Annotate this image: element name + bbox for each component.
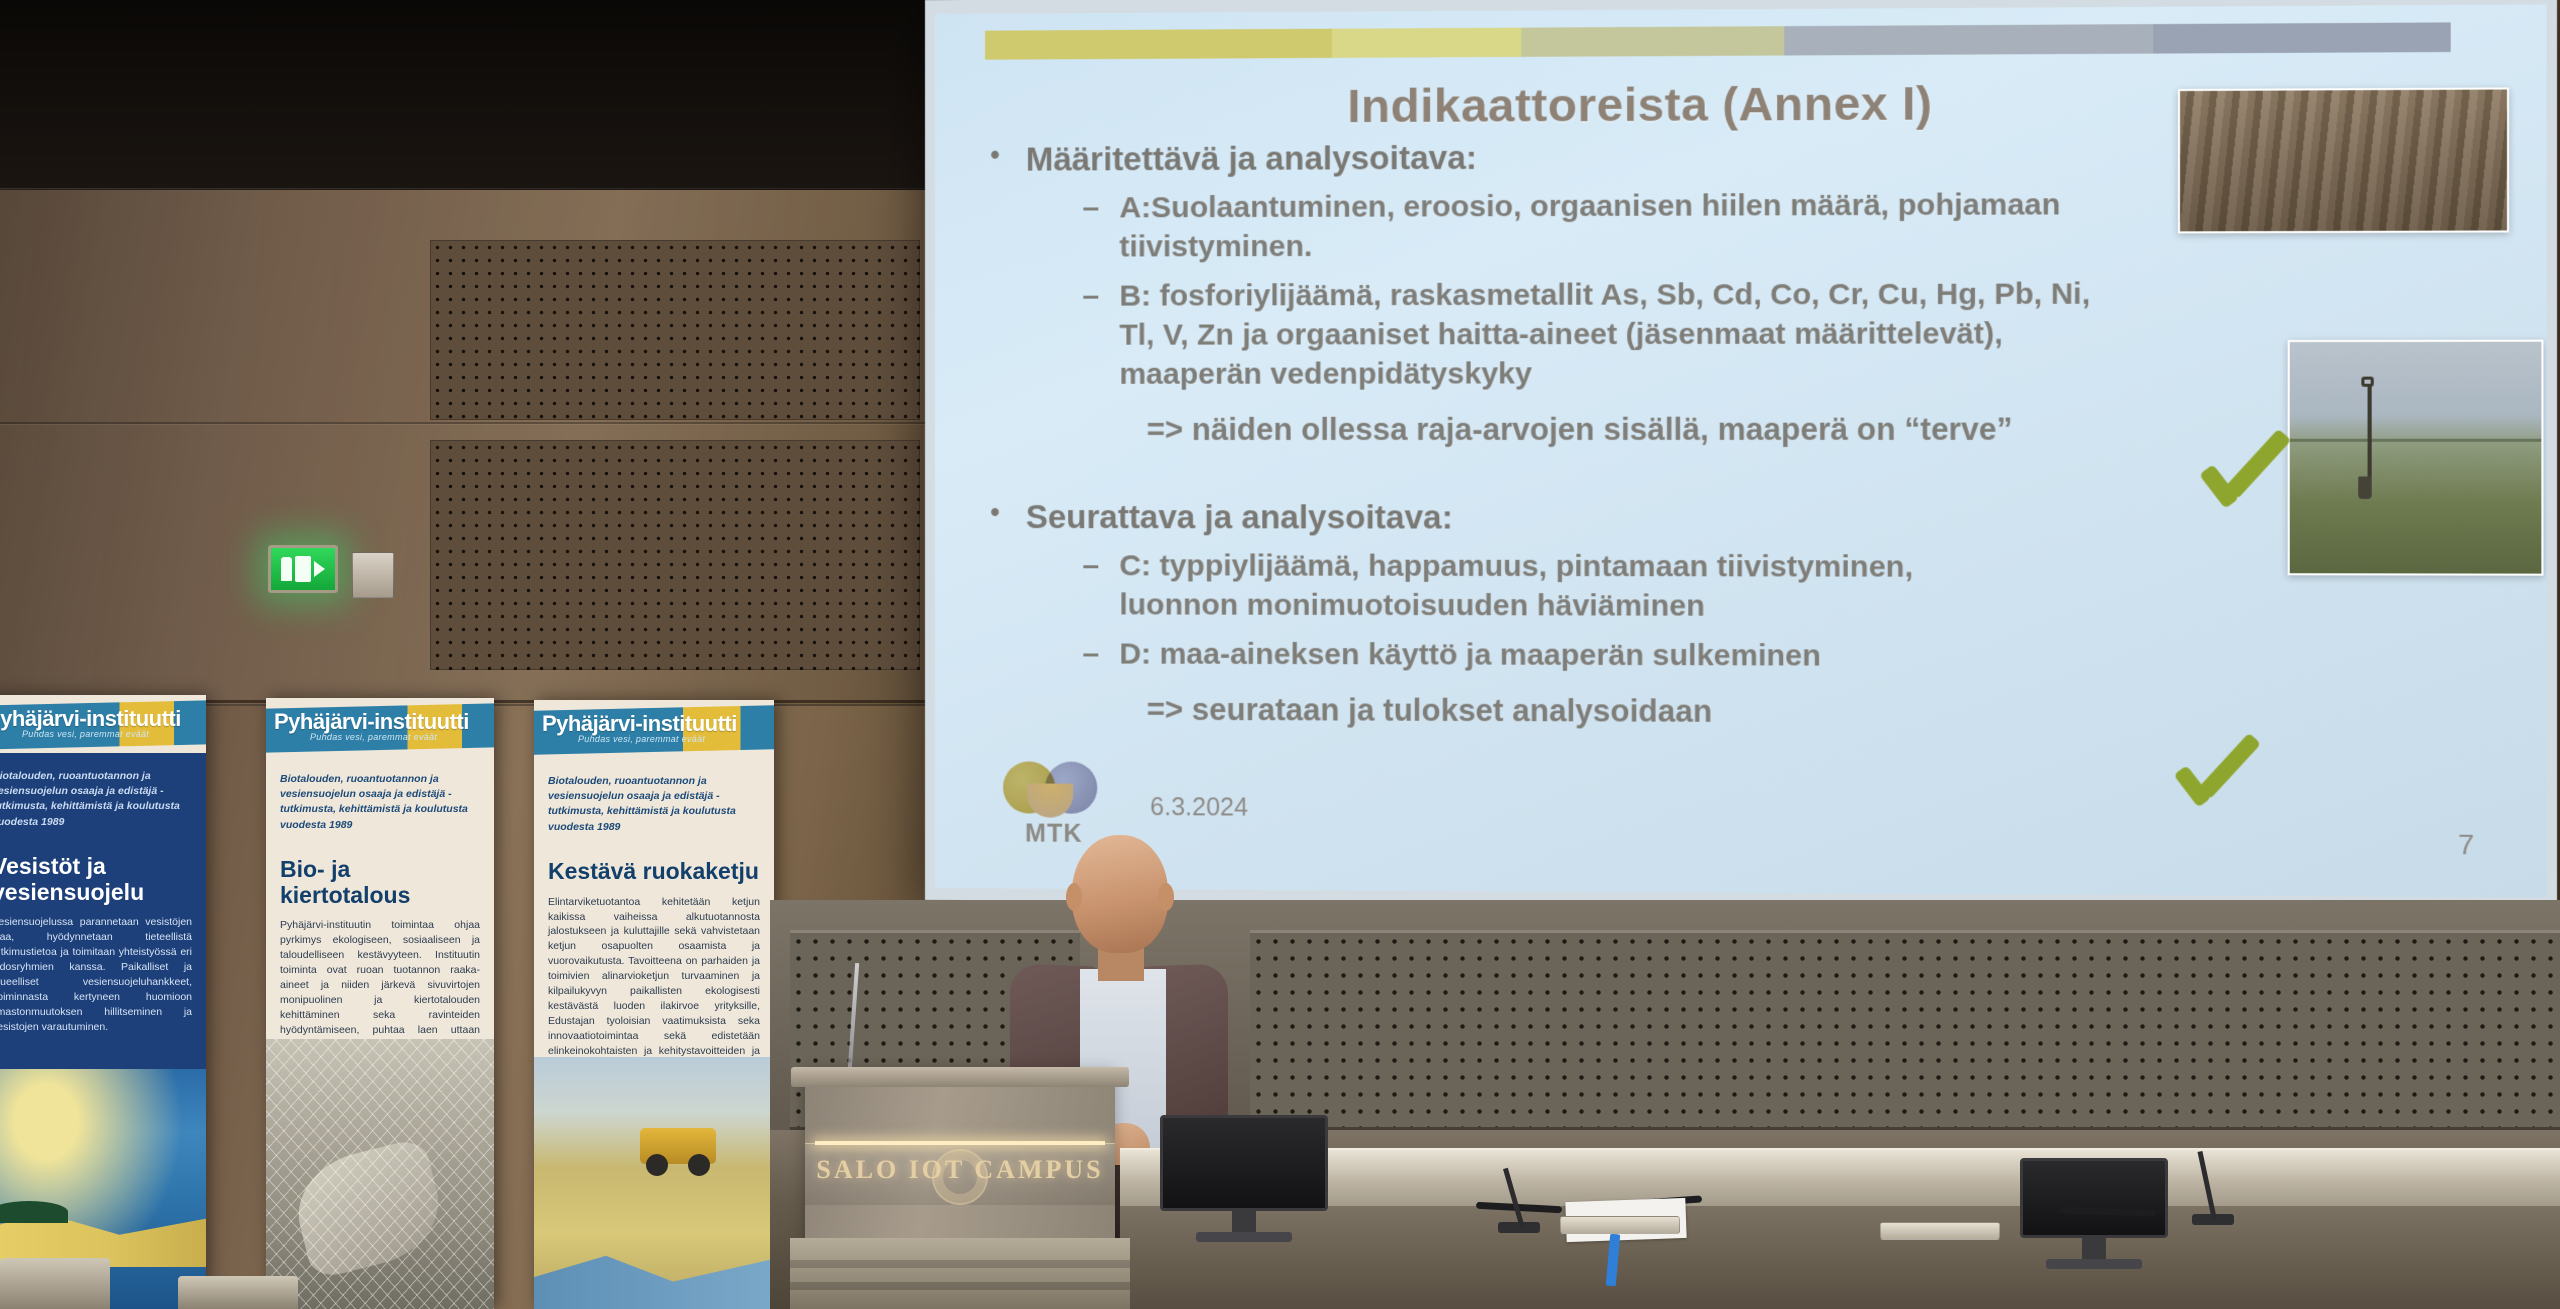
bullet-level1-2: • Seurattava ja analysoitava: bbox=[990, 498, 2276, 538]
bench-slat bbox=[790, 1282, 1130, 1290]
bullet-dot-icon: • bbox=[990, 140, 999, 178]
sub-bullet-B-line3: maaperän vedenpidätyskyky bbox=[1119, 357, 1532, 391]
sub-bullet-A-line2: tiivistyminen. bbox=[1119, 230, 1312, 264]
banner-intro-1: Biotalouden, ruoantuotannon ja vesiensuo… bbox=[0, 753, 206, 830]
sub-bullet-C-text: C: typpiylijäämä, happamuus, pintamaan t… bbox=[1119, 546, 1913, 626]
dash-icon: – bbox=[1082, 276, 1099, 393]
sub-bullet-B: – B: fosforiylijäämä, raskasmetallit As,… bbox=[1082, 274, 2275, 394]
keyboard-1 bbox=[1560, 1216, 1680, 1234]
sub-bullet-D: – D: maa-aineksen käyttö ja maaperän sul… bbox=[1082, 634, 2275, 677]
topbar-segment-4 bbox=[1785, 25, 2154, 56]
perforated-acoustic-panel-1 bbox=[430, 240, 920, 420]
dash-icon: – bbox=[1082, 546, 1099, 624]
monitor-base bbox=[1196, 1232, 1292, 1242]
sub-bullet-A-line1: A:Suolaantuminen, eroosio, orgaanisen hi… bbox=[1119, 188, 2060, 224]
monitor-stand bbox=[1232, 1208, 1256, 1234]
slide-decorative-topbar bbox=[985, 23, 2451, 60]
sub-bullet-D-text: D: maa-aineksen käyttö ja maaperän sulke… bbox=[1119, 634, 1821, 675]
rollup-banner-bio-kiertotalous: Pyhäjärvi-instituutti Puhdas vesi, parem… bbox=[266, 698, 494, 1309]
soil-erosion-photo bbox=[2178, 88, 2509, 234]
topbar-segment-2 bbox=[1332, 28, 1521, 58]
exit-arrow-icon bbox=[314, 561, 325, 577]
banner-photo-river bbox=[534, 1233, 774, 1309]
bullet-level1-2-text: Seurattava ja analysoitava: bbox=[1026, 498, 1453, 537]
banner-tagline-3: Puhdas vesi, paremmat eväät bbox=[578, 734, 705, 744]
banner-header-2: Pyhäjärvi-instituutti Puhdas vesi, parem… bbox=[266, 698, 494, 756]
topbar-segment-3 bbox=[1521, 27, 1784, 58]
sub-bullet-C-line1: C: typpiylijäämä, happamuus, pintamaan t… bbox=[1119, 549, 1913, 583]
venue-sign-text: SALO IOT CAMPUS bbox=[805, 1155, 1115, 1185]
banner-body-1: Vesiensuojelussa parannetaan vesistöjen … bbox=[0, 905, 206, 1034]
sub-bullet-A: – A:Suolaantuminen, eroosio, orgaanisen … bbox=[1082, 184, 2275, 266]
presentation-slide: Indikaattoreista (Annex I) • Määritettäv… bbox=[935, 5, 2547, 898]
stage-perforated-panel-right bbox=[1250, 930, 2560, 1130]
presenter-ears bbox=[1066, 883, 1174, 913]
banner-header-1: Pyhäjärvi-instituutti Puhdas vesi, parem… bbox=[0, 695, 206, 753]
back-wall-upper-dark bbox=[0, 0, 960, 190]
emergency-exit-sign bbox=[268, 545, 338, 593]
sub-bullet-B-text: B: fosforiylijäämä, raskasmetallit As, S… bbox=[1119, 274, 2090, 394]
green-checkmark-1 bbox=[2202, 423, 2305, 510]
topbar-segment-5 bbox=[2153, 23, 2451, 54]
bullet-level1-1: • Määritettävä ja analysoitava: bbox=[990, 135, 2276, 178]
banner-headline-3: Kestävä ruokaketju bbox=[534, 835, 774, 885]
podium-top-surface bbox=[791, 1067, 1129, 1087]
rollup-banner-kestava-ruokaketju: Pyhäjärvi-instituutti Puhdas vesi, parem… bbox=[534, 700, 774, 1309]
wall-mounted-sensor bbox=[352, 552, 394, 598]
projection-screen: Indikaattoreista (Annex I) • Määritettäv… bbox=[925, 0, 2557, 910]
monitor-left bbox=[1160, 1115, 1328, 1211]
mtk-logo-mark bbox=[989, 762, 1119, 819]
monitor-stand bbox=[2082, 1235, 2106, 1261]
banner-photo-fish-net bbox=[266, 1039, 494, 1309]
rollup-banner-vesistot: Pyhäjärvi-instituutti Puhdas vesi, parem… bbox=[0, 695, 206, 1309]
slide-date: 6.3.2024 bbox=[1150, 793, 1248, 823]
banner-photo-tractor bbox=[640, 1128, 716, 1164]
conclusion-line-1: => näiden ollessa raja-arvojen sisällä, … bbox=[1147, 409, 2276, 450]
keyboard-2 bbox=[1880, 1222, 2000, 1240]
banner-intro-2: Biotalouden, ruoantuotannon ja vesiensuo… bbox=[266, 756, 494, 833]
monitor-right bbox=[2020, 1158, 2168, 1238]
exit-person-icon bbox=[281, 557, 292, 581]
section-gap bbox=[990, 450, 2276, 499]
spade-handle bbox=[2367, 383, 2371, 480]
bench-slat bbox=[790, 1260, 1130, 1268]
banner-tagline-1: Puhdas vesi, paremmat eväät bbox=[22, 729, 149, 739]
banner-photo-field-tractor bbox=[534, 1057, 774, 1309]
front-bench bbox=[790, 1238, 1130, 1309]
photo-horizon-line bbox=[2289, 439, 2541, 442]
dash-icon: – bbox=[1082, 634, 1099, 673]
sub-bullet-C-line2: luonnon monimuotoisuuden häviäminen bbox=[1119, 588, 1705, 622]
lecture-hall-scene: Indikaattoreista (Annex I) • Määritettäv… bbox=[0, 0, 2560, 1309]
banner-headline-1: Vesistöt ja vesiensuojelu bbox=[0, 830, 206, 906]
field-with-spade-photo bbox=[2287, 339, 2543, 576]
spade-blade bbox=[2358, 476, 2371, 498]
banner-photo-island bbox=[0, 1201, 68, 1223]
topbar-segment-1 bbox=[985, 29, 1332, 60]
banner-intro-3: Biotalouden, ruoantuotannon ja vesiensuo… bbox=[534, 758, 774, 835]
banner-header-3: Pyhäjärvi-instituutti Puhdas vesi, parem… bbox=[534, 700, 774, 758]
audience-chair-2 bbox=[178, 1276, 298, 1309]
monitor-base bbox=[2046, 1259, 2142, 1269]
slide-body: • Määritettävä ja analysoitava: – A:Suol… bbox=[990, 135, 2276, 734]
exit-door-icon bbox=[295, 556, 311, 582]
bullet-dot-icon: • bbox=[990, 498, 999, 536]
banner-photo-net bbox=[266, 1039, 494, 1309]
perforated-acoustic-panel-2 bbox=[430, 440, 920, 670]
sub-bullet-A-text: A:Suolaantuminen, eroosio, orgaanisen hi… bbox=[1119, 185, 2060, 267]
slide-page-number: 7 bbox=[2458, 829, 2474, 862]
spade-grip bbox=[2361, 376, 2373, 386]
checkmark-stroke-long bbox=[2197, 732, 2261, 799]
conclusion-line-2: => seurataan ja tulokset analysoidaan bbox=[1147, 690, 2276, 735]
checkmark-stroke-long bbox=[2225, 429, 2292, 500]
banner-headline-2: Bio- ja kiertotalous bbox=[266, 833, 494, 909]
desk-left-front bbox=[1120, 1206, 1450, 1309]
bullet-level1-1-text: Määritettävä ja analysoitava: bbox=[1026, 138, 1477, 178]
green-checkmark-2 bbox=[2175, 729, 2278, 817]
podium-led-strip bbox=[815, 1141, 1105, 1145]
sub-bullet-B-line1: B: fosforiylijäämä, raskasmetallit As, S… bbox=[1119, 277, 2090, 312]
sub-bullet-C: – C: typpiylijäämä, happamuus, pintamaan… bbox=[1082, 546, 2275, 627]
banner-tagline-2: Puhdas vesi, paremmat eväät bbox=[310, 732, 437, 742]
sub-bullet-B-line2: Tl, V, Zn ja orgaaniset haitta-aineet (j… bbox=[1119, 317, 2003, 352]
audience-chair-1 bbox=[0, 1258, 110, 1309]
dash-icon: – bbox=[1082, 188, 1099, 266]
